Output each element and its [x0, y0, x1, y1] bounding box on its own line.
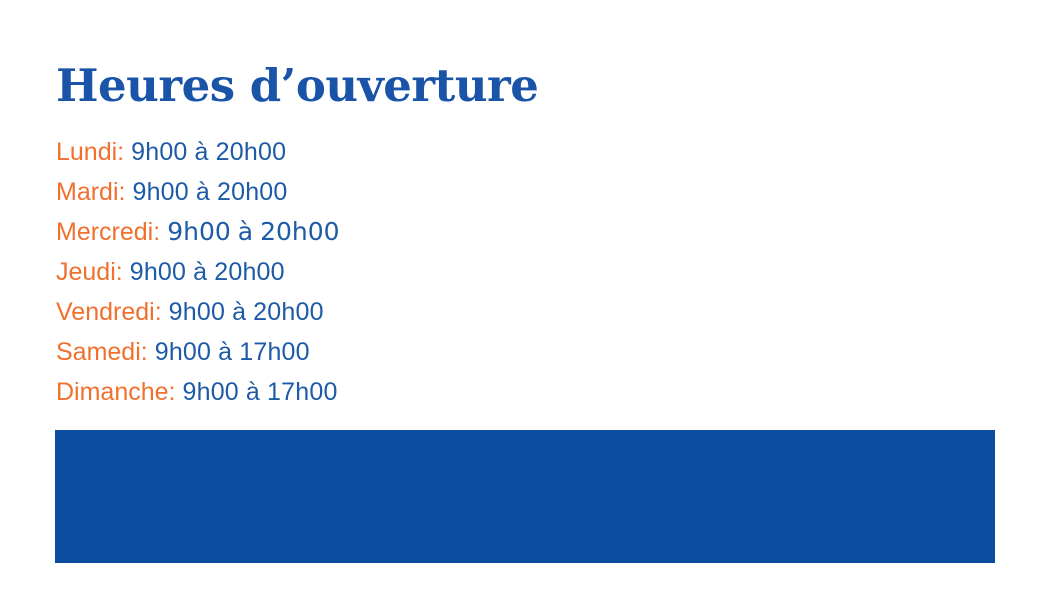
day-label: Vendredi: [56, 298, 162, 326]
list-item: Jeudi:9h00à20h00 [56, 252, 340, 292]
open-time: 9h00 [167, 217, 231, 246]
day-label: Mercredi: [56, 218, 160, 246]
time-separator: à [196, 178, 210, 206]
close-time: 20h00 [253, 298, 324, 326]
close-time: 20h00 [260, 217, 339, 246]
close-time: 20h00 [217, 178, 288, 206]
list-item: Dimanche:9h00à17h00 [56, 372, 340, 412]
list-item: Mercredi:9h00à20h00 [56, 212, 340, 252]
close-time: 17h00 [239, 338, 310, 366]
time-separator: à [218, 338, 232, 366]
close-time: 20h00 [216, 138, 287, 166]
day-label: Dimanche: [56, 378, 176, 406]
list-item: Lundi:9h00à20h00 [56, 132, 340, 172]
blue-content-band [55, 430, 995, 563]
close-time: 20h00 [214, 258, 285, 286]
close-time: 17h00 [267, 378, 338, 406]
open-time: 9h00 [155, 338, 211, 366]
day-label: Mardi: [56, 178, 125, 206]
list-item: Samedi:9h00à17h00 [56, 332, 340, 372]
time-separator: à [246, 378, 260, 406]
time-separator: à [193, 258, 207, 286]
time-separator: à [232, 298, 246, 326]
open-time: 9h00 [169, 298, 225, 326]
open-time: 9h00 [132, 178, 188, 206]
open-time: 9h00 [130, 258, 186, 286]
open-time: 9h00 [183, 378, 239, 406]
list-item: Vendredi:9h00à20h00 [56, 292, 340, 332]
day-label: Lundi: [56, 138, 124, 166]
opening-hours-list: Lundi:9h00à20h00 Mardi:9h00à20h00 Mercre… [56, 132, 340, 412]
time-separator: à [195, 138, 209, 166]
day-label: Samedi: [56, 338, 148, 366]
open-time: 9h00 [131, 138, 187, 166]
page-title: Heures d’ouverture [56, 62, 538, 109]
list-item: Mardi:9h00à20h00 [56, 172, 340, 212]
slide-canvas: Heures d’ouverture Lundi:9h00à20h00 Mard… [0, 0, 1050, 600]
time-separator: à [238, 217, 253, 246]
day-label: Jeudi: [56, 258, 123, 286]
